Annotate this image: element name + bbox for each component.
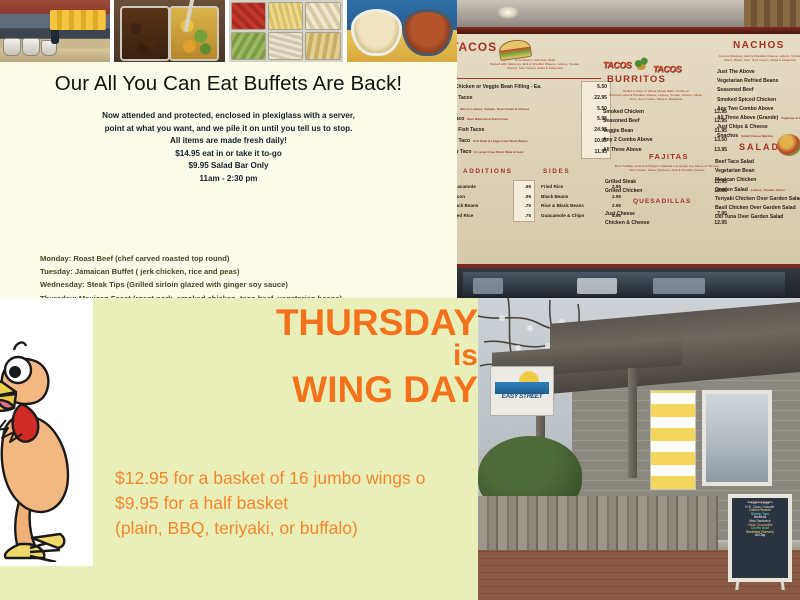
menu-item-name: Dill Tuna Over Garden Salad [715, 214, 783, 220]
tacos-logo-left: TACOS [602, 60, 632, 70]
stew-cooker [402, 9, 453, 56]
buffet-day-line: Wednesday: Steak Tips (Grilled sirloin g… [40, 278, 397, 291]
text-line: Corn, Sour Cream, Salsa & Jalapeños [603, 97, 709, 101]
tacos-subtitle: Corn Shell or Soft Flour ShellTopped wit… [475, 58, 595, 70]
easy-street-storefront-photo: EASY STREET Easy Street Cantina Fish + C… [478, 298, 800, 600]
menu-item-description: Toppings & Cheese [780, 116, 800, 120]
red-rail [457, 27, 800, 34]
menu-item: Fried Rice [541, 182, 584, 192]
menu-item-price: .75 [515, 201, 531, 211]
buffet-photo-strip [0, 0, 457, 62]
buffet-day-line: Tuesday: Jamaican Buffet ( jerk chicken,… [40, 265, 397, 278]
counter-equipment [473, 278, 503, 294]
menu-item-description: Lettuce, Tomato, Onion [750, 188, 785, 192]
menu-item-name: Just The Above [717, 69, 755, 75]
menu-item: Chicken & Cheese [605, 219, 649, 228]
text-line: Sour Cream, Salsa, Monterey Jack & Chedd… [603, 168, 731, 172]
chicken-and-vegetable-trays-photo [114, 0, 224, 62]
menu-item: Just Chips & Cheese [717, 123, 800, 132]
chalkboard-menu-sign: Easy Street Cantina Fish + ChipsN.E. Cla… [728, 494, 792, 582]
text-line: Olives, Black, Corn, Sour Cream, Salsa &… [719, 58, 800, 62]
menu-item: Guacamole [457, 182, 478, 192]
menu-item: Vegetarian Bean [715, 167, 800, 176]
counter-equipment [653, 278, 705, 294]
menu-item-name: Bacon [457, 194, 465, 199]
menu-item: Vegetarian Refried Beans [717, 77, 800, 86]
menu-item: Teriyaki Chicken Over Garden Salad [715, 195, 800, 204]
menu-item-name: Grilled Chicken [605, 188, 642, 194]
quesadillas-heading: QUESADILLAS [633, 198, 691, 205]
fajitas-heading: FAJITAS [649, 152, 689, 161]
menu-item-price: .75 [515, 211, 531, 221]
ceiling-light [497, 6, 519, 19]
wing-heading-line-3: WING DAY [178, 371, 478, 408]
chalkboard-lines: Fish + ChipsN.E. Clam ChowderGrilled Reu… [732, 502, 788, 538]
menu-item: Rice & Black Beans [541, 201, 584, 211]
menu-item-description: Bacon, Lettuce, Tomato, Sour Cream & Che… [459, 107, 529, 111]
counter-equipment [577, 278, 617, 294]
menu-item: Garden Salad Lettuce, Tomato, Onion [715, 186, 800, 195]
menu-item: Shrimp Taco In Large Crisp Shell, Slaw &… [457, 147, 541, 158]
tray-compartment [305, 32, 340, 60]
menu-item-description: Beer Battered & Flash Fried [466, 117, 508, 121]
sun-icon [519, 371, 539, 382]
menu-item: Guacamole & Chips [541, 211, 584, 221]
menu-item-name: Macho Taco [457, 138, 470, 144]
service-counter [457, 264, 800, 298]
menu-item-name: Smoked Chicken [603, 109, 644, 115]
cartoon-chicken-mascot [0, 312, 96, 562]
menu-item: Black Beans [541, 192, 584, 202]
wing-price-lines: $12.95 for a basket of 16 jumbo wings o$… [115, 466, 425, 541]
menu-item-description: In Large Crisp Shell, Slaw & Guac [473, 150, 523, 154]
menu-item: Any 2 Combo Above [603, 136, 653, 145]
food-tray [50, 10, 106, 30]
menu-item-name: Beef, Chicken or Veggie Bean Filling - E… [457, 84, 541, 90]
menu-item-name: All Three Above [603, 147, 642, 153]
menu-item-name: Snachos [717, 133, 738, 139]
buffet-day-line: Monday: Roast Beef (chef carved roasted … [40, 252, 397, 265]
nachos-item-list: Just The AboveVegetarian Refried BeansSe… [717, 68, 800, 142]
sides-heading: SIDES [543, 168, 570, 175]
tray-compartment [305, 2, 340, 30]
cactus-icon [633, 54, 651, 70]
text-line: Onions, Sour Cream, Salsa & Jalapeños [475, 66, 595, 70]
menu-item: Box of Fish Tacos [457, 125, 541, 136]
window-posters [650, 390, 696, 490]
taco-menu-board-photo: TACOS Corn Shell or Soft Flour ShellTopp… [457, 0, 800, 298]
text-line: $9.95 Salad Bar Only [0, 160, 457, 173]
text-line: $9.95 for a half basket [115, 491, 425, 516]
buffet-subtext: Now attended and protected, enclosed in … [0, 110, 457, 186]
menu-item: Just The Above [717, 68, 800, 77]
counter-surface [463, 272, 785, 296]
tray-compartment [231, 32, 266, 60]
menu-item-name: Smoked Spiced Chicken [717, 97, 776, 103]
menu-item: BLTCT Bacon, Lettuce, Tomato, Sour Cream… [457, 104, 541, 115]
menu-item-name: Seasoned Beef [603, 118, 640, 124]
menu-item-price: .95 [515, 192, 531, 202]
additions-item-list: GuacamoleBaconBlack BeansFried Rice [457, 182, 478, 220]
menu-item-name: Black Beans [457, 203, 478, 208]
menu-item-name: Fried Rice [541, 184, 563, 189]
buffet-steam-table-photo [0, 0, 110, 62]
compartment-trays-photo [229, 0, 343, 62]
menu-item: Grilled Steak [605, 178, 642, 187]
burritos-subtitle: Rolled in Flour or Whole Wheat Warm Tort… [603, 89, 709, 101]
fajitas-item-list: Grilled SteakGrilled Chicken [605, 178, 642, 197]
menu-item-name: Vegetarian Bean [715, 168, 755, 174]
salad-illustration [777, 134, 800, 156]
menu-item: Beef, Chicken or Veggie Bean Filling - E… [457, 82, 541, 93]
nachos-subtitle: Corn or Monterey Jack & Cheddar Cheese, … [719, 54, 800, 62]
text-line: $12.95 for a basket of 16 jumbo wings o [115, 466, 425, 491]
burritos-item-list: Smoked ChickenSeasoned BeefVeggie BeanAn… [603, 108, 653, 155]
menu-item-name: Box of Fish Tacos [457, 127, 485, 133]
menu-item-name: Just Cheese [605, 211, 635, 217]
menu-item: Fried Rice [457, 211, 478, 221]
easy-street-sign: EASY STREET [490, 366, 554, 416]
chalkboard-menu-line: All Day [732, 534, 788, 538]
menu-item-name: Box of Tacos [457, 95, 473, 101]
menu-panel: TACOS Corn Shell or Soft Flour ShellTopp… [457, 34, 800, 266]
text-line: $14.95 eat in or take it to-go [0, 148, 457, 161]
tray-compartment [268, 32, 303, 60]
wing-day-heading: THURSDAY is WING DAY [178, 304, 478, 408]
tacos-logo-right: TACOS [652, 64, 682, 74]
menu-item-price: 13.95 [707, 146, 727, 155]
easy-street-sign-text: EASY STREET [494, 393, 550, 400]
menu-item-name: Vegetarian Refried Beans [717, 78, 778, 84]
text-line: point at what you want, and we pile it o… [0, 123, 457, 136]
collage-canvas: Our All You Can Eat Buffets Are Back! No… [0, 0, 800, 600]
menu-item: All Three Above (Grande) Toppings & Chee… [717, 114, 800, 123]
wing-heading-line-1: THURSDAY [178, 304, 478, 341]
menu-item: Just Cheese [605, 210, 649, 219]
menu-item: Fish Taco Beer Battered & Flash Fried [457, 114, 541, 125]
menu-item: Bacon [457, 192, 478, 202]
menu-item-name: Just Chips & Cheese [717, 124, 768, 130]
menu-item-name: Seasoned Beef [717, 87, 754, 93]
menu-item-name: Fried Rice [457, 213, 473, 218]
menu-item-price: .95 [515, 182, 531, 192]
additions-price-list: .95.95.75.75 [515, 182, 531, 220]
menu-item-name: Garden Salad [715, 187, 748, 193]
menu-item-name: Beef Taco Salad [715, 159, 754, 165]
menu-item: Box of Tacos [457, 93, 541, 104]
menu-item: Seasoned Beef [603, 117, 653, 126]
menu-item: Veggie Bean [603, 127, 653, 136]
menu-item: Dill Tuna Over Garden Salad [715, 213, 800, 222]
menu-item-description: Soft Shell & Large Crisp Shell, Beans [472, 139, 528, 143]
fajitas-subtitle: Flour Tortillas, Onions & Peppers Sautee… [603, 164, 731, 172]
menu-item: Macho Taco Soft Shell & Large Crisp Shel… [457, 136, 541, 147]
menu-item-name: Guacamole [457, 184, 476, 189]
tacos-item-list: Beef, Chicken or Veggie Bean Filling - E… [457, 82, 541, 158]
buffet-headline: Our All You Can Eat Buffets Are Back! [0, 72, 457, 96]
burritos-heading: BURRITOS [607, 74, 666, 85]
additions-heading: ADDITIONS [463, 168, 513, 175]
menu-item-name: Mexican Chicken [715, 177, 756, 183]
porch-post [628, 368, 637, 478]
menu-item-name: Veggie Bean [603, 128, 633, 134]
nachos-heading: NACHOS [733, 40, 785, 51]
menu-item-name: Rice & Black Beans [541, 203, 584, 208]
menu-item: Beef Taco Salad [715, 158, 800, 167]
menu-item-name: Teriyaki Chicken Over Garden Salad [715, 196, 800, 202]
text-line: Now attended and protected, enclosed in … [0, 110, 457, 123]
menu-item-name: Black Beans [541, 194, 568, 199]
menu-item: Smoked Chicken [603, 108, 653, 117]
menu-item-name: Chicken & Cheese [605, 220, 649, 226]
chicken-tray [120, 6, 170, 61]
rice-cookers-photo [347, 0, 457, 62]
menu-item: Grilled Chicken [605, 187, 642, 196]
tray-compartment [268, 2, 303, 30]
menu-item: Smoked Spiced Chicken [717, 96, 800, 105]
menu-item: All Three Above [603, 146, 653, 155]
chafing-pot [3, 38, 21, 56]
menu-item-name: Shrimp Taco [457, 149, 471, 155]
menu-item: Black Beans [457, 201, 478, 211]
menu-item-name: Fish Taco [457, 116, 464, 122]
menu-item-name: Basil Chicken Over Garden Salad [715, 205, 796, 211]
menu-item-name: Any 2 Combo Above [603, 137, 653, 143]
menu-item-name: Any Two Combo Above [717, 106, 774, 112]
wooden-fence [478, 496, 718, 554]
rice-cooker [351, 9, 402, 56]
wing-heading-line-2: is [178, 341, 478, 371]
sides-item-list: Fried RiceBlack BeansRice & Black BeansG… [541, 182, 584, 220]
salads-item-list: Beef Taco SaladVegetarian BeanMexican Ch… [715, 158, 800, 222]
tacos-heading: TACOS [457, 40, 497, 54]
wing-day-panel: THURSDAY is WING DAY $12.95 for a basket… [0, 298, 478, 600]
text-line: (plain, BBQ, teriyaki, or buffalo) [115, 516, 425, 541]
menu-item-description: Small Cheese Nachos [740, 134, 773, 138]
menu-item-name: All Three Above (Grande) [717, 115, 778, 121]
quesadillas-item-list: Just CheeseChicken & Cheese [605, 210, 649, 229]
chafing-pot [22, 38, 40, 56]
menu-item: Any Two Combo Above [717, 105, 800, 114]
vegetable-tray [169, 6, 219, 61]
menu-item: Basil Chicken Over Garden Salad [715, 204, 800, 213]
menu-item-name: Guacamole & Chips [541, 213, 584, 218]
text-line: All items are made fresh daily! [0, 135, 457, 148]
tray-compartment [231, 2, 266, 30]
buffet-announcement-panel: Our All You Can Eat Buffets Are Back! No… [0, 62, 457, 298]
menu-item: Mexican Chicken [715, 176, 800, 185]
menu-item-name: Grilled Steak [605, 179, 636, 185]
menu-item: Seasoned Beef [717, 86, 800, 95]
text-line: 11am - 2:30 pm [0, 173, 457, 186]
storefront-window [702, 390, 772, 486]
